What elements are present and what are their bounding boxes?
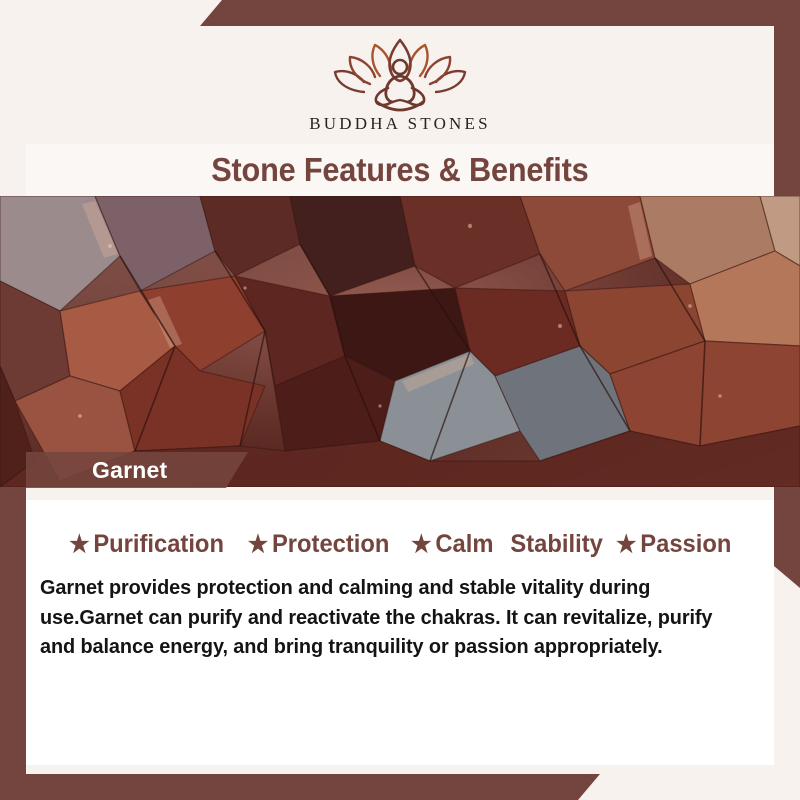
star-icon: ★ <box>616 533 636 557</box>
benefit-label: Purification <box>94 530 225 559</box>
poster-root: BUDDHA STONES Stone Features & Benefits <box>0 0 800 800</box>
content-card: ★ Purification ★ Protection ★ Calm Stabi… <box>26 500 774 765</box>
benefit-item-purification: ★ Purification <box>69 530 224 559</box>
benefit-label: Calm <box>436 530 494 559</box>
benefit-item-calm: ★ Calm <box>412 530 494 559</box>
stone-photo <box>0 196 800 487</box>
star-icon: ★ <box>69 533 89 557</box>
benefit-label: Passion <box>641 530 732 559</box>
benefit-item-passion: ★ Passion <box>616 530 731 559</box>
stone-photo-image <box>0 196 800 487</box>
benefits-row: ★ Purification ★ Protection ★ Calm Stabi… <box>26 500 774 559</box>
border-band-top <box>0 0 800 26</box>
stone-description: Garnet provides protection and calming a… <box>40 573 738 662</box>
stone-name: Garnet <box>92 457 167 484</box>
star-icon: ★ <box>248 533 268 557</box>
brand-logo-block: BUDDHA STONES <box>0 26 800 144</box>
page-title: Stone Features & Benefits <box>211 151 588 189</box>
benefit-label: Protection <box>272 530 389 559</box>
page-title-band: Stone Features & Benefits <box>26 144 774 196</box>
stone-name-banner: Garnet <box>26 452 248 488</box>
benefit-item-stability: Stability <box>511 530 603 559</box>
lotus-meditation-icon <box>330 36 470 112</box>
star-icon: ★ <box>412 533 432 557</box>
border-band-bottom <box>0 774 800 800</box>
brand-name: BUDDHA STONES <box>309 114 491 134</box>
benefit-label: Stability <box>511 530 603 559</box>
benefit-item-protection: ★ Protection <box>248 530 390 559</box>
